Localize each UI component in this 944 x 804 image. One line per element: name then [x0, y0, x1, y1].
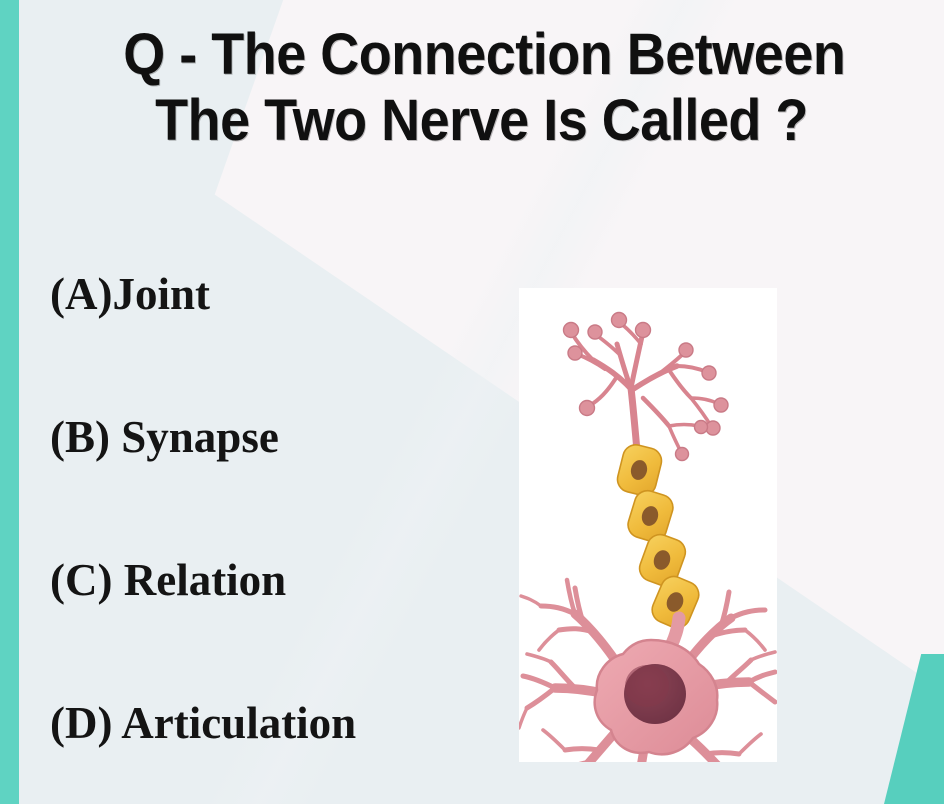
neuron-figure-panel — [519, 288, 777, 762]
question-title: Q - The Connection Between The Two Nerve… — [51, 22, 911, 154]
option-a[interactable]: (A)Joint — [50, 272, 490, 320]
option-b[interactable]: (B) Synapse — [50, 415, 490, 463]
neuron-diagram-icon — [519, 288, 777, 762]
left-accent-bar — [0, 0, 19, 804]
option-c[interactable]: (C) Relation — [50, 558, 490, 606]
nucleolus-highlight — [625, 665, 669, 707]
answer-options-list: (A)Joint (B) Synapse (C) Relation (D) Ar… — [50, 272, 490, 749]
option-d[interactable]: (D) Articulation — [50, 701, 490, 749]
question-title-line-2: The Two Nerve Is Called ? — [51, 88, 911, 154]
quiz-slide: Q - The Connection Between The Two Nerve… — [0, 0, 944, 804]
question-title-line-1: Q - The Connection Between — [51, 22, 911, 88]
